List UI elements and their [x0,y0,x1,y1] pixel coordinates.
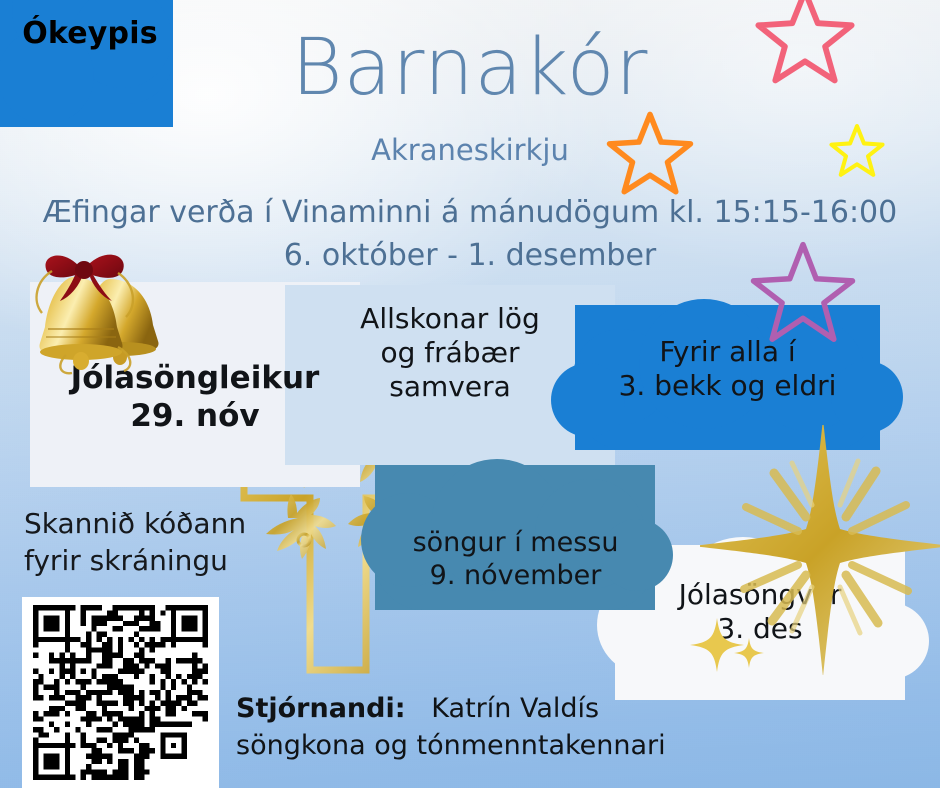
gold-sparkle-small-icon [734,638,764,668]
schedule-line-1: Æfingar verða í Vinaminni á mánudögum kl… [0,195,940,230]
cloud-fyrir-alla-text: Fyrir alla í 3. bekk og eldri [580,335,875,403]
page-title: Barnakór [0,23,940,113]
qr-code[interactable] [22,597,219,788]
poster-canvas: Jólasöngleikur 29. nóv Allskonar lög og … [0,0,940,788]
conductor-info: Stjórnandi: Katrín Valdís söngkona og tó… [236,690,856,765]
cloud-allskonar-text: Allskonar lög og frábær samvera [300,302,600,404]
page-subtitle: Akraneskirkju [0,133,940,167]
conductor-name: Katrín Valdís [431,693,599,724]
schedule-line-2: 6. október - 1. desember [0,238,940,273]
conductor-label: Stjórnandi: [236,693,406,724]
qr-code-image[interactable] [30,605,211,780]
conductor-role: söngkona og tónmenntakennari [236,730,666,761]
cloud-songur-i-messu-text: söngur í messu 9. nóvember [378,527,653,593]
scan-instruction-text: Skannið kóðann fyrir skráningu [24,505,324,579]
